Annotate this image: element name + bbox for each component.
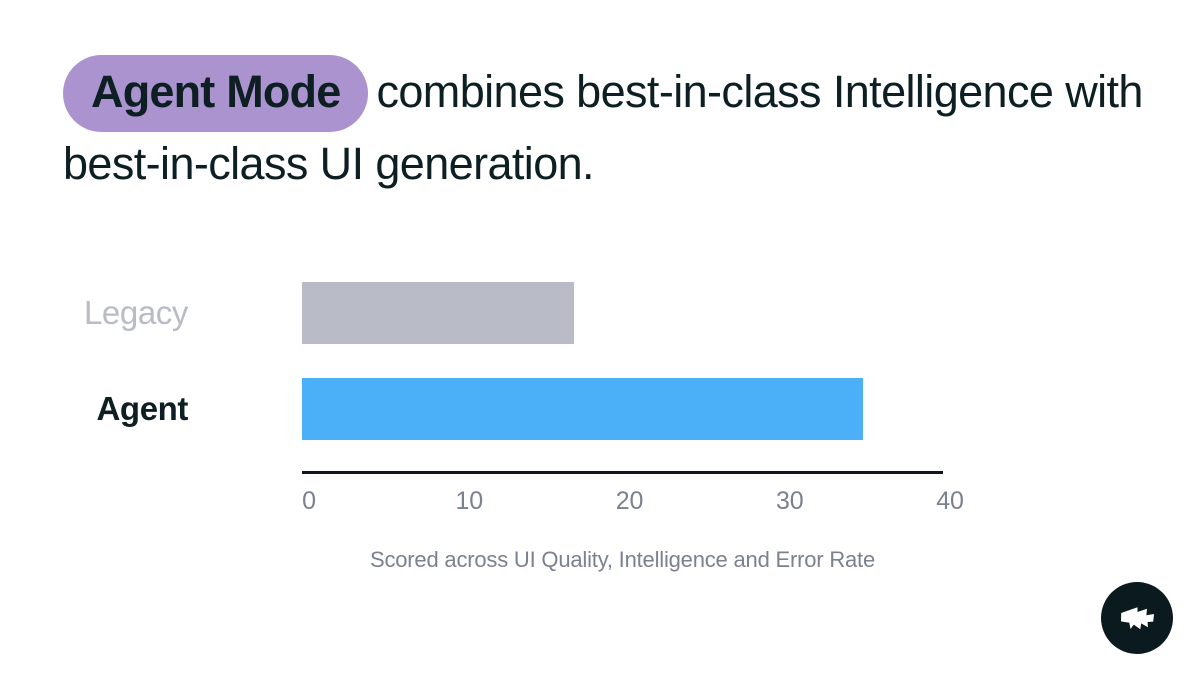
page-title: Agent Modecombines best-in-class Intelli… [63,55,1153,195]
bar-fill-agent [302,378,863,440]
flag-bubble-logo-icon [1117,601,1157,635]
bar-category-label-agent: Agent [0,378,270,440]
slide-canvas: Agent Modecombines best-in-class Intelli… [0,0,1200,675]
x-axis-tick-label: 20 [616,487,643,516]
bar-track-legacy [302,282,943,344]
bar-row: Legacy [0,282,1200,344]
x-axis-tick-label: 40 [936,487,963,516]
bar-category-label-legacy: Legacy [0,282,270,344]
bar-track-agent [302,378,943,440]
bar-row: Agent [0,378,1200,440]
bar-fill-legacy [302,282,574,344]
brand-logo-badge[interactable] [1101,582,1173,654]
bar-chart: Legacy Agent 010203040 Scored across UI … [0,255,1200,595]
x-axis-tick-label: 30 [776,487,803,516]
x-axis-tick-label: 10 [456,487,483,516]
agent-mode-pill: Agent Mode [63,55,368,132]
x-axis-ticks: 010203040 [302,487,943,523]
x-axis-tick-label: 0 [302,487,316,516]
chart-caption: Scored across UI Quality, Intelligence a… [302,547,943,573]
x-axis-line [302,471,943,474]
